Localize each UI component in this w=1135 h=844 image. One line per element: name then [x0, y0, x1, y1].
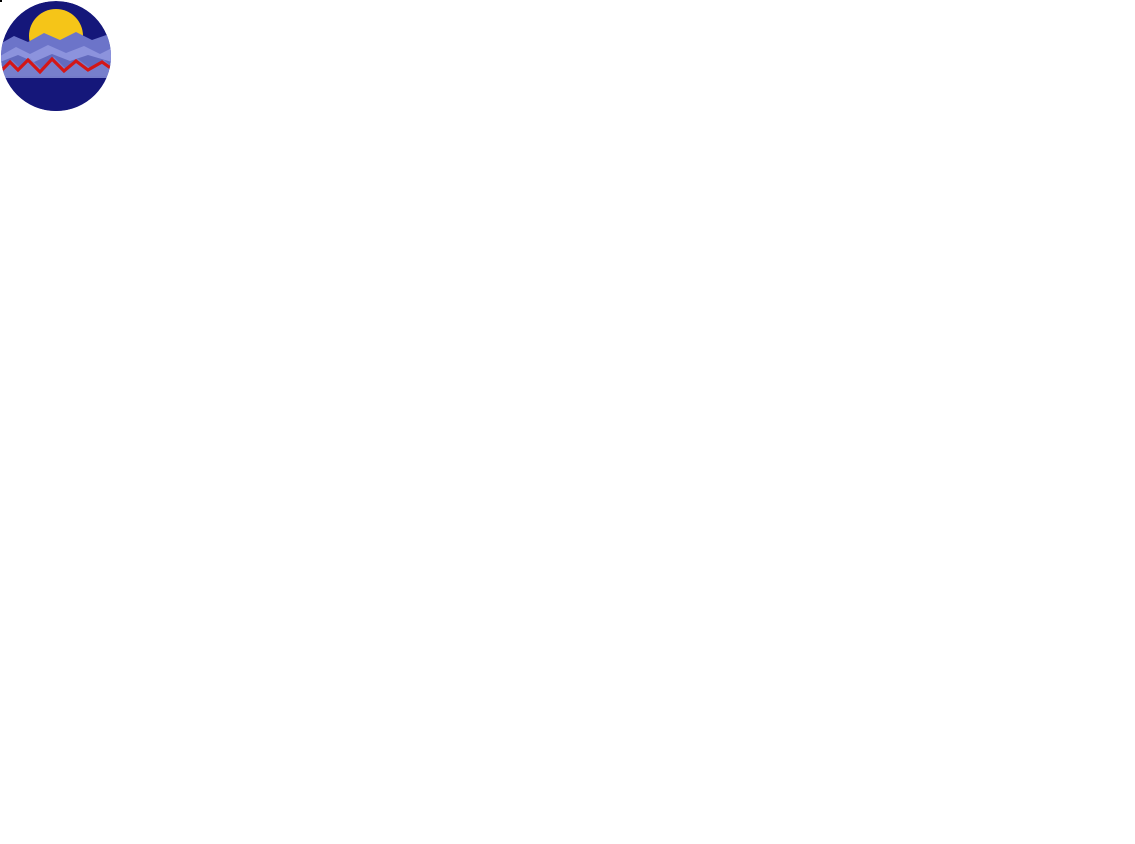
- ncics-logo: [0, 0, 112, 112]
